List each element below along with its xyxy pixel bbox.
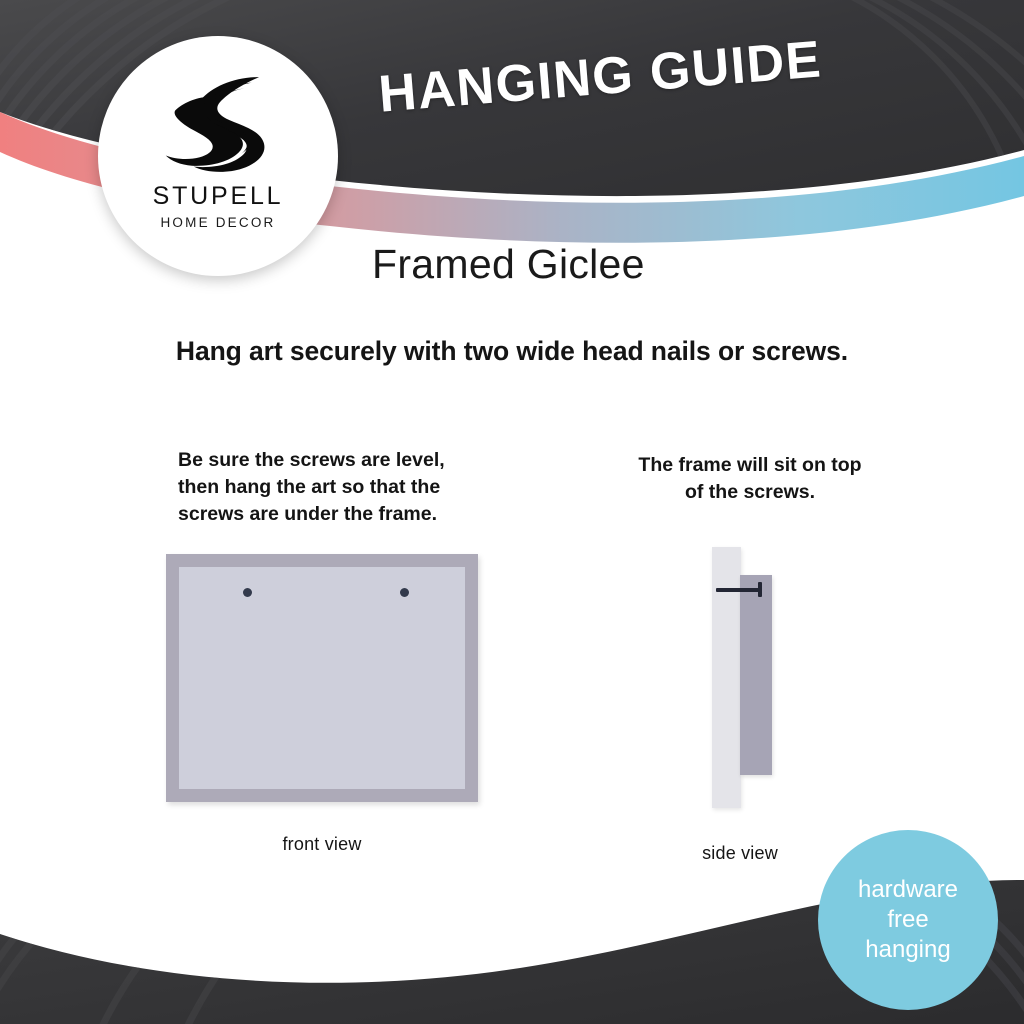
- screw-dot-right: [400, 588, 409, 597]
- logo-wordmark: STUPELL: [153, 184, 284, 209]
- front-caption-line-2: then hang the art so that the: [178, 474, 478, 501]
- logo-subwordmark: HOME DECOR: [160, 216, 275, 230]
- stupell-swoosh-icon: [162, 62, 274, 178]
- badge-line-1: hardware: [858, 875, 958, 905]
- side-view-diagram: [706, 540, 796, 820]
- front-caption-line-3: screws are under the frame.: [178, 501, 478, 528]
- screw-dot-left: [243, 588, 252, 597]
- front-caption-line-1: Be sure the screws are level,: [178, 447, 478, 474]
- side-view-screw-head: [758, 582, 762, 597]
- side-view-screw-shaft: [716, 588, 760, 592]
- main-instruction: Hang art securely with two wide head nai…: [0, 336, 1024, 367]
- side-view-label: side view: [660, 843, 820, 864]
- product-title: Framed Giclee: [372, 240, 645, 289]
- hanging-guide-page: HANGING GUIDE STUPELL HOME DECOR Framed …: [0, 0, 1024, 1024]
- brand-logo-badge: STUPELL HOME DECOR: [98, 36, 338, 276]
- badge-line-2: free: [887, 905, 928, 935]
- side-view-wall: [712, 547, 741, 808]
- front-view-caption: Be sure the screws are level, then hang …: [178, 447, 478, 528]
- front-view-label: front view: [166, 834, 478, 855]
- side-caption-line-1: The frame will sit on top: [604, 452, 896, 479]
- front-view-diagram: [166, 554, 478, 802]
- side-view-caption: The frame will sit on top of the screws.: [604, 452, 896, 506]
- side-view-frame: [740, 575, 772, 775]
- hardware-free-hanging-badge: hardware free hanging: [818, 830, 998, 1010]
- front-view-mat: [179, 567, 465, 789]
- page-title: HANGING GUIDE: [377, 27, 899, 121]
- badge-line-3: hanging: [865, 935, 950, 965]
- side-caption-line-2: of the screws.: [604, 479, 896, 506]
